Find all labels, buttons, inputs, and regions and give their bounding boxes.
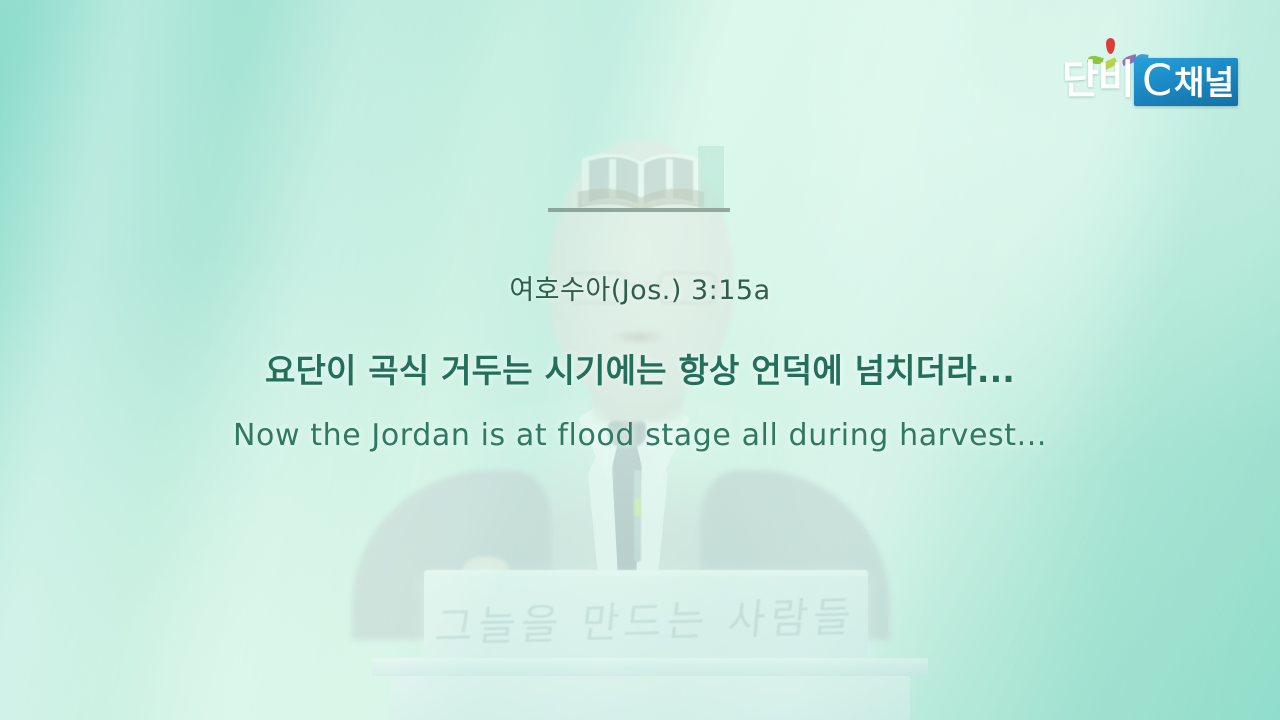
podium-handwritten-label: 그늘을 만드는 사람들: [420, 570, 872, 665]
channel-logo: 단비 C 채널: [1062, 34, 1248, 114]
book-green-tint: [698, 146, 724, 212]
scripture-english-line: Now the Jordan is at flood stage all dur…: [0, 418, 1280, 453]
podium-base: [390, 676, 910, 720]
logo-brand-text: 단비: [1062, 60, 1134, 100]
logo-channel-letter: C: [1142, 60, 1172, 103]
book-baseline-rule: [548, 208, 730, 212]
logo-channel-text: 채널: [1174, 66, 1234, 99]
scripture-korean-line: 요단이 곡식 거두는 시기에는 항상 언덕에 넘치더라...: [0, 344, 1280, 392]
raindrop-icon: [1106, 38, 1115, 54]
speaker-mouth: [613, 330, 665, 344]
broadcast-frame: 그늘을 만드는 사람들 여호수아(Jos.) 3:15a 요단이 곡식 거두는 …: [0, 0, 1280, 720]
microphone-led-icon: [634, 498, 641, 516]
scripture-reference: 여호수아(Jos.) 3:15a: [0, 268, 1280, 307]
microphone: [634, 470, 641, 562]
podium-ledge: [372, 658, 928, 676]
